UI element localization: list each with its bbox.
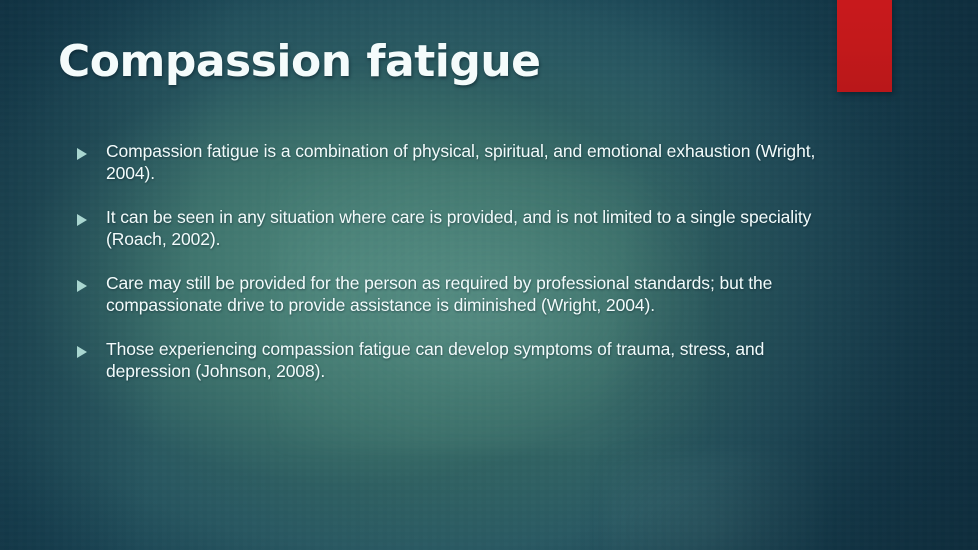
list-item-text: It can be seen in any situation where ca…	[106, 206, 834, 250]
list-item: Compassion fatigue is a combination of p…	[74, 140, 834, 184]
slide-body-bullet-list: Compassion fatigue is a combination of p…	[74, 140, 834, 404]
triangle-right-icon	[74, 338, 106, 360]
list-item-text: Compassion fatigue is a combination of p…	[106, 140, 834, 184]
list-item: It can be seen in any situation where ca…	[74, 206, 834, 250]
red-accent-bar	[837, 0, 892, 92]
triangle-right-icon	[74, 140, 106, 162]
list-item: Those experiencing compassion fatigue ca…	[74, 338, 834, 382]
slide-title: Compassion fatigue	[58, 36, 541, 87]
list-item: Care may still be provided for the perso…	[74, 272, 834, 316]
list-item-text: Those experiencing compassion fatigue ca…	[106, 338, 834, 382]
triangle-right-icon	[74, 206, 106, 228]
list-item-text: Care may still be provided for the perso…	[106, 272, 834, 316]
triangle-right-icon	[74, 272, 106, 294]
presentation-slide: Compassion fatigue Compassion fatigue is…	[0, 0, 978, 550]
